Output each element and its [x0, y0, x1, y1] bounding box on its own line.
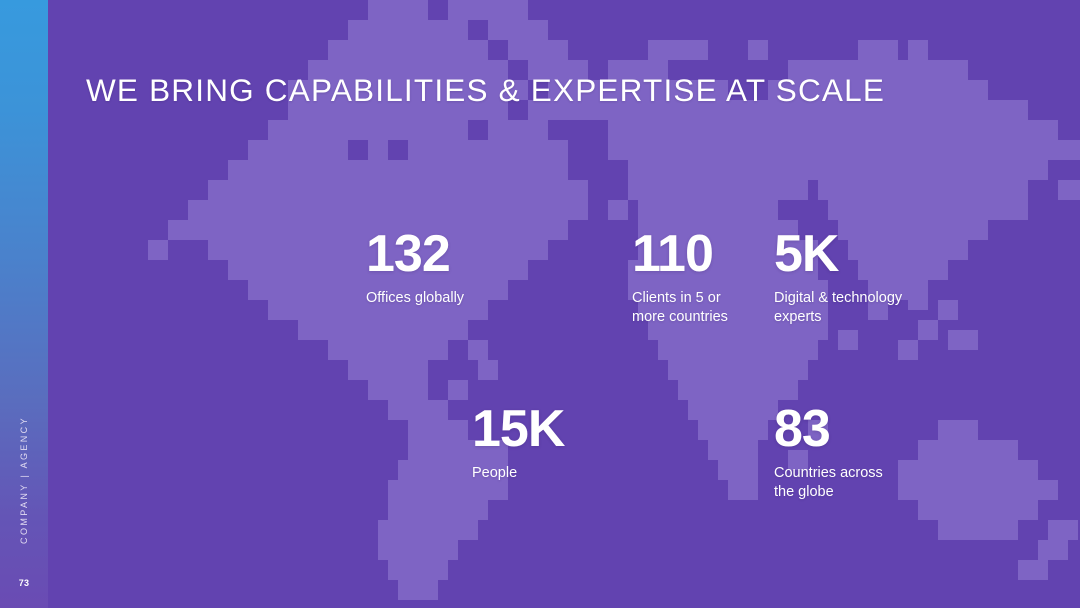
stat-value: 83: [774, 403, 883, 455]
stat-digital-technology-experts: 5K Digital & technology experts: [774, 228, 902, 327]
stat-people: 15K People: [472, 403, 564, 483]
stat-countries-across-the-globe: 83 Countries across the globe: [774, 403, 883, 502]
stat-value: 5K: [774, 228, 902, 280]
stat-value: 132: [366, 228, 464, 280]
rail-brand-label: COMPANY | AGENCY: [19, 416, 29, 544]
left-accent-rail: COMPANY | AGENCY 73: [0, 0, 48, 608]
stat-label: Countries across the globe: [774, 464, 883, 502]
stat-label: Offices globally: [366, 289, 464, 308]
page-number: 73: [0, 578, 48, 588]
stat-value: 110: [632, 228, 728, 280]
stat-offices-globally: 132 Offices globally: [366, 228, 464, 308]
stat-clients-in-5-or-more-countries: 110 Clients in 5 or more countries: [632, 228, 728, 327]
page-title: WE BRING CAPABILITIES & EXPERTISE AT SCA…: [86, 72, 885, 109]
stat-label: Digital & technology experts: [774, 289, 902, 327]
stat-value: 15K: [472, 403, 564, 455]
stat-label: People: [472, 464, 564, 483]
stat-label: Clients in 5 or more countries: [632, 289, 728, 327]
slide-canvas: WE BRING CAPABILITIES & EXPERTISE AT SCA…: [0, 0, 1080, 608]
